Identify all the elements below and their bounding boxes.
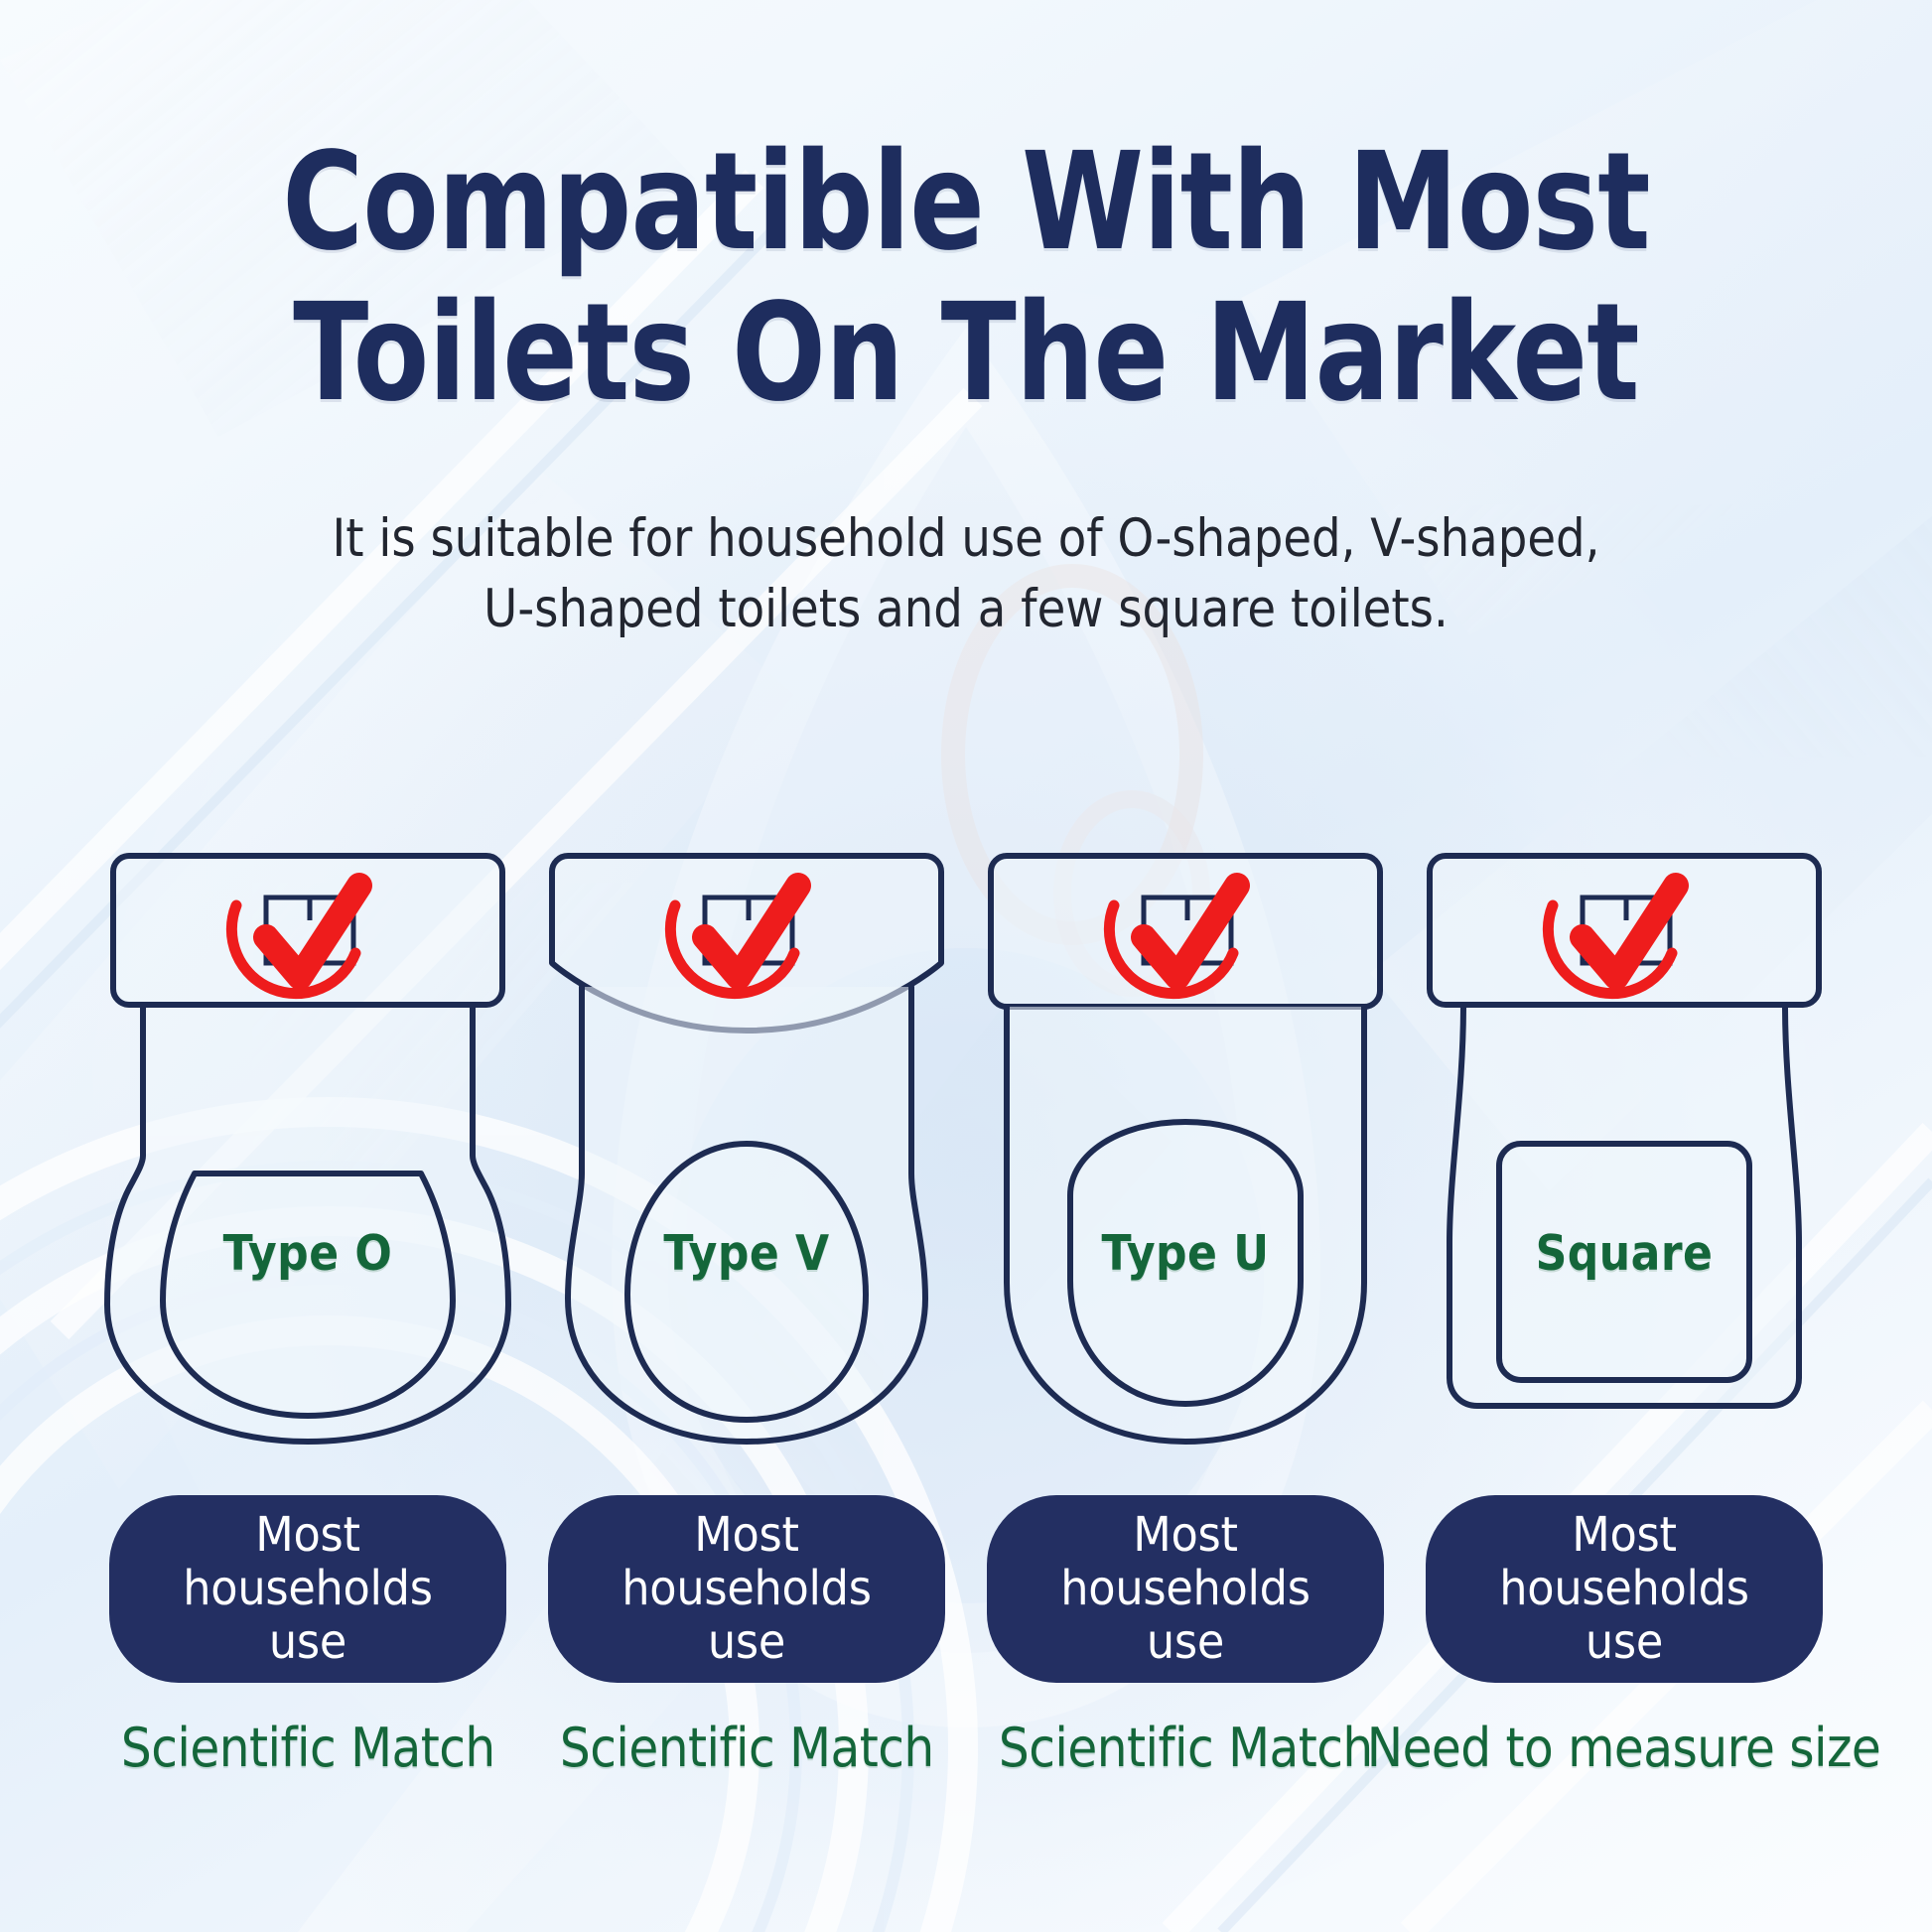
badge-text-v: Most households use xyxy=(579,1509,915,1669)
toilet-diagram-v: Type V xyxy=(538,846,955,1442)
badge-households-o: Most households use xyxy=(109,1495,506,1683)
type-label-u: Type U xyxy=(998,1225,1373,1282)
badge-text-u: Most households use xyxy=(1018,1509,1354,1669)
toilet-diagram-u: Type U xyxy=(977,846,1394,1442)
type-label-square: Square xyxy=(1437,1225,1812,1282)
checkbox-checked-circle-icon xyxy=(1109,886,1237,994)
check-icon-wrapper-square xyxy=(1416,846,1833,1442)
badge-text-square: Most households use xyxy=(1456,1509,1793,1669)
badge-households-u: Most households use xyxy=(987,1495,1384,1683)
checkbox-checked-circle-icon xyxy=(231,886,359,994)
checkbox-checked-circle-icon xyxy=(670,886,798,994)
toilet-card-u[interactable]: Type U Most households use Scientific Ma… xyxy=(977,846,1394,1779)
check-icon-wrapper-u xyxy=(977,846,1394,1442)
badge-text-o: Most households use xyxy=(140,1509,477,1669)
match-label-square: Need to measure size xyxy=(1367,1717,1881,1779)
type-label-v: Type V xyxy=(559,1225,934,1282)
match-label-u: Scientific Match xyxy=(999,1717,1373,1779)
toilet-card-v[interactable]: Type V Most households use Scientific Ma… xyxy=(538,846,955,1779)
toilet-diagram-o: Type O xyxy=(99,846,516,1442)
header-block: Compatible With Most Toilets On The Mark… xyxy=(0,127,1932,644)
toilet-diagram-square: Square xyxy=(1416,846,1833,1442)
check-icon-wrapper-o xyxy=(99,846,516,1442)
checkbox-checked-circle-icon xyxy=(1548,886,1676,994)
check-icon-wrapper-v xyxy=(538,846,955,1442)
match-label-o: Scientific Match xyxy=(121,1717,495,1779)
match-label-v: Scientific Match xyxy=(560,1717,934,1779)
toilet-type-list: Type O Most households use Scientific Ma… xyxy=(99,846,1833,1779)
compatibility-poster: Compatible With Most Toilets On The Mark… xyxy=(0,0,1932,1932)
page-title: Compatible With Most Toilets On The Mark… xyxy=(174,127,1758,430)
page-subtitle: It is suitable for household use of O-sh… xyxy=(116,430,1816,644)
toilet-card-o[interactable]: Type O Most households use Scientific Ma… xyxy=(99,846,516,1779)
toilet-card-square[interactable]: Square Most households use Need to measu… xyxy=(1416,846,1833,1779)
type-label-o: Type O xyxy=(120,1225,495,1282)
badge-households-square: Most households use xyxy=(1426,1495,1823,1683)
badge-households-v: Most households use xyxy=(548,1495,945,1683)
